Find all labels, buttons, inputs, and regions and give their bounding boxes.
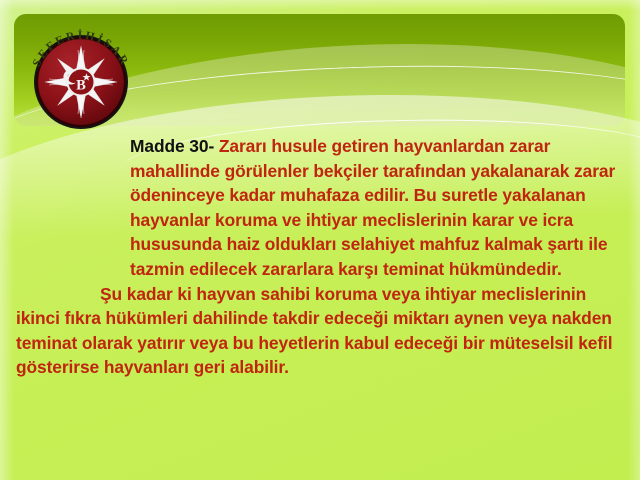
slide-canvas: B SEFERİHİSAR Madde 30- Zararı husule ge…	[0, 0, 640, 480]
article-label: Madde 30-	[130, 136, 214, 156]
article-body: Zararı husule getiren hayvanlardan zarar…	[130, 136, 615, 279]
paragraph-proviso: Şu kadar ki hayvan sahibi koruma veya ih…	[12, 282, 628, 380]
seferihisar-emblem-logo: B SEFERİHİSAR	[24, 22, 138, 136]
emblem-center-letter: B	[76, 77, 86, 93]
slide-body-text: Madde 30- Zararı husule getiren hayvanla…	[12, 134, 628, 380]
paragraph-article-30: Madde 30- Zararı husule getiren hayvanla…	[12, 134, 628, 282]
